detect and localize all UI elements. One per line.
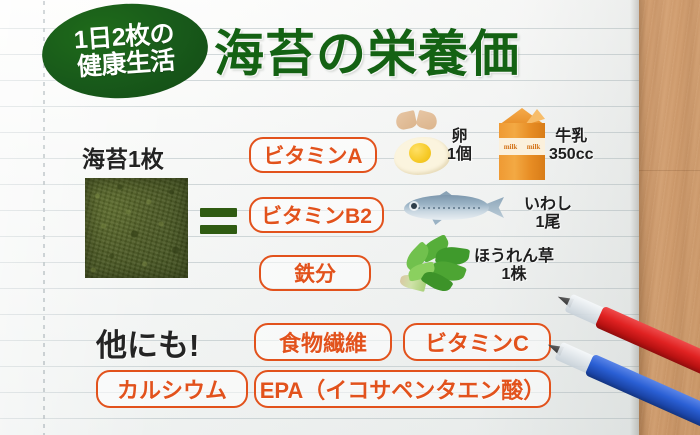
milk-carton-text-right: milk xyxy=(527,143,541,151)
milk-carton-label: milk milk xyxy=(499,138,545,155)
milk-carton-icon: milk milk xyxy=(499,108,545,180)
nori-nutrition-infographic: 1日2枚の 健康生活 海苔の栄養価 海苔1枚 ビタミンA ビタミンB2 鉄分 卵… xyxy=(0,0,700,435)
nori-sheet-image xyxy=(85,178,188,278)
sardine-caption-line2: 1尾 xyxy=(524,214,572,232)
nutrient-pill-vitamin-c: ビタミンC xyxy=(403,323,551,361)
egg-caption: 卵 1個 xyxy=(447,128,472,164)
spinach-caption: ほうれん草 1株 xyxy=(474,248,554,284)
sardine-caption: いわし 1尾 xyxy=(524,196,572,232)
milk-carton-text-left: milk xyxy=(504,143,518,151)
sardine-lateral-line xyxy=(418,207,480,209)
page-title: 海苔の栄養価 xyxy=(214,14,520,86)
spinach-caption-line1: ほうれん草 xyxy=(474,248,554,266)
egg-caption-line2: 1個 xyxy=(447,146,472,164)
milk-caption: 牛乳 350cc xyxy=(549,128,594,164)
other-nutrients-heading: 他にも! xyxy=(96,320,199,365)
egg-yolk-icon xyxy=(409,143,431,163)
sardine-eye xyxy=(411,203,417,209)
nutrient-pill-calcium: カルシウム xyxy=(96,370,248,408)
nutrient-pill-epa: EPA（イコサペンタエン酸） xyxy=(254,370,551,408)
spinach-icon xyxy=(398,240,470,298)
nutrient-pill-dietary-fiber: 食物繊維 xyxy=(254,323,392,361)
equals-sign-icon xyxy=(200,208,237,236)
nutrient-pill-vitamin-b2: ビタミンB2 xyxy=(249,197,384,233)
egg-caption-line1: 卵 xyxy=(447,128,472,146)
nori-texture xyxy=(85,178,188,278)
nori-sheet-label: 海苔1枚 xyxy=(82,140,164,174)
sardine-icon xyxy=(398,188,506,228)
nutrient-pill-vitamin-a: ビタミンA xyxy=(249,137,377,173)
nutrient-pill-iron: 鉄分 xyxy=(259,255,371,291)
spinach-caption-line2: 1株 xyxy=(474,266,554,284)
sardine-caption-line1: いわし xyxy=(524,196,572,214)
milk-caption-line2: 350cc xyxy=(549,146,594,164)
badge-line-2: 健康生活 xyxy=(76,49,176,81)
milk-caption-line1: 牛乳 xyxy=(549,128,594,146)
